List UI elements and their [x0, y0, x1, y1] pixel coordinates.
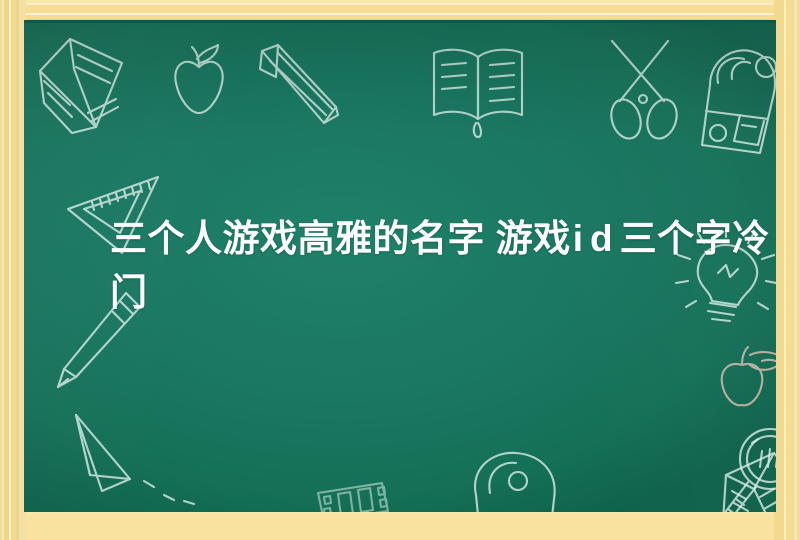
- school-bag-icon: [456, 447, 574, 512]
- frame-border-top: [0, 0, 800, 22]
- chalkboard-surface: [24, 20, 776, 512]
- set-square-icon: [60, 165, 170, 265]
- film-strip-icon: [316, 481, 394, 512]
- satchel-icon: [708, 437, 776, 512]
- frame-border-right: [774, 0, 800, 540]
- scissors-icon: [602, 37, 692, 147]
- books-stack-icon: [26, 25, 136, 140]
- paper-plane-icon: [52, 405, 202, 510]
- poster-canvas: 三个人游戏高雅的名字 游戏id三个字冷门: [0, 0, 800, 540]
- frame-border-bottom: [0, 512, 800, 540]
- open-book-icon: [424, 39, 539, 144]
- apple-icon: [164, 43, 234, 121]
- magnifier-icon: [706, 423, 776, 512]
- pencil-icon: [256, 43, 346, 133]
- pencil-diagonal-icon: [50, 291, 146, 401]
- frame-border-left: [0, 0, 26, 540]
- cherry-apple-icon: [714, 345, 776, 415]
- backpack-icon: [688, 41, 776, 161]
- lightbulb-icon: [670, 219, 776, 331]
